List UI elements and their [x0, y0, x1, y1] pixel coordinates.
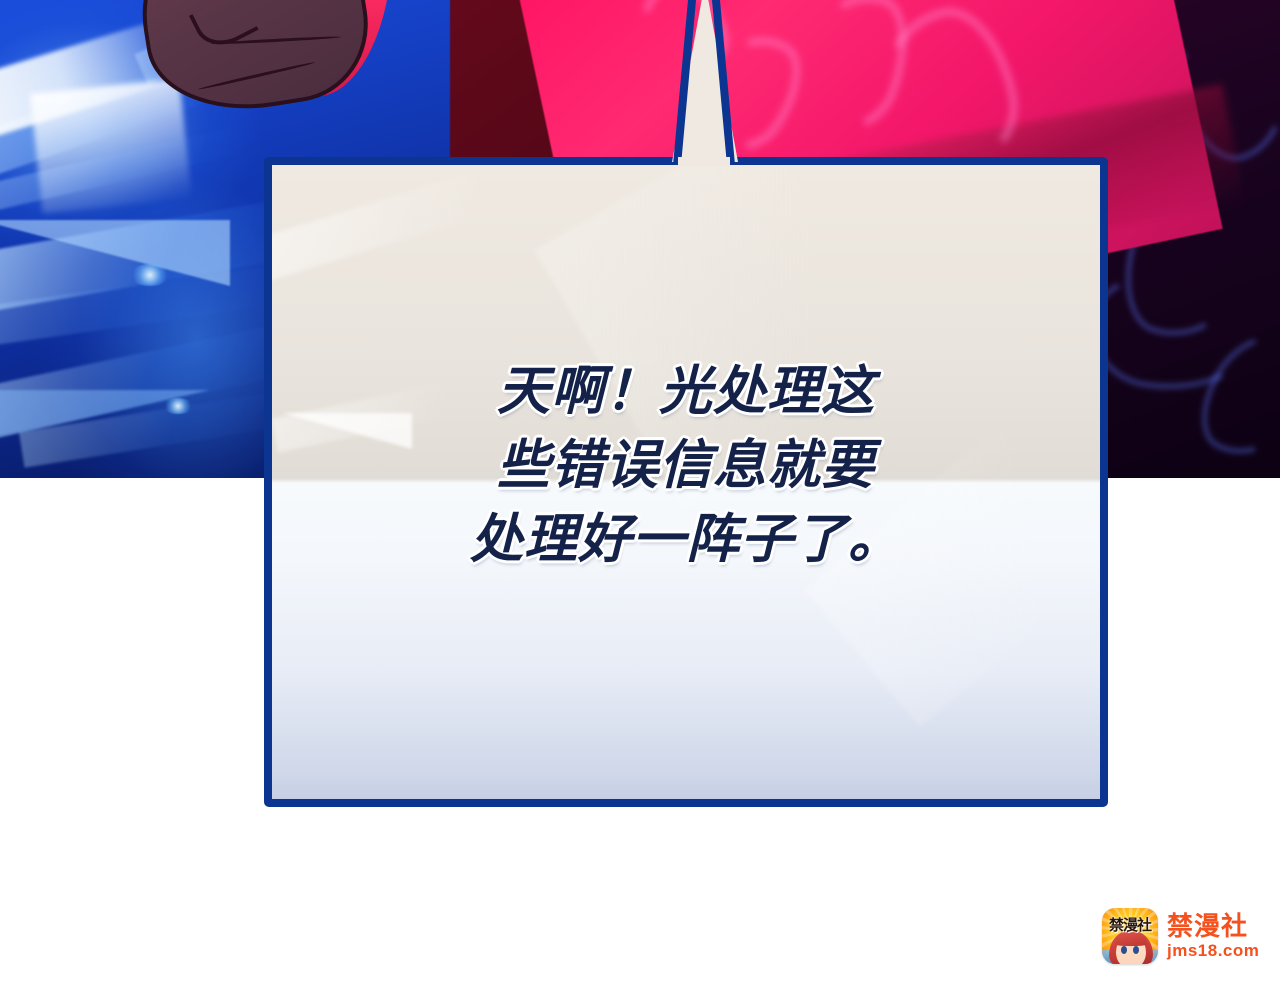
comic-page: 天啊！光处理这 些错误信息就要 处理好一阵子了。 禁漫社 禁漫社 jms18.c…: [0, 0, 1280, 1000]
crystal-glow: [130, 264, 170, 286]
figure-contour-line: [198, 61, 316, 91]
watermark-title: 禁漫社: [1167, 913, 1259, 939]
figure-body: [128, 0, 379, 124]
speech-bubble-tail-mouth: [678, 157, 730, 167]
crystal-glow: [163, 398, 193, 414]
watermark-text-group: 禁漫社 jms18.com: [1167, 913, 1259, 959]
dialogue-line-3: 处理好一阵子了。: [264, 503, 1108, 577]
bubble-sheen: [264, 157, 552, 282]
figure-fold: [189, 0, 259, 55]
site-logo-icon[interactable]: 禁漫社: [1102, 908, 1158, 964]
silhouetted-figure: [120, 0, 390, 170]
dialogue-line-2: 些错误信息就要: [264, 429, 1108, 503]
site-watermark[interactable]: 禁漫社 禁漫社 jms18.com: [1102, 908, 1259, 964]
logo-character-eye: [1133, 946, 1139, 954]
dialogue-line-1: 天啊！光处理这: [264, 355, 1108, 429]
watermark-url[interactable]: jms18.com: [1167, 942, 1259, 959]
logo-character-eye: [1121, 946, 1127, 954]
dialogue-text: 天啊！光处理这 些错误信息就要 处理好一阵子了。: [264, 355, 1108, 577]
crystal-triangle: [0, 220, 230, 286]
logo-title-text: 禁漫社: [1102, 914, 1158, 935]
